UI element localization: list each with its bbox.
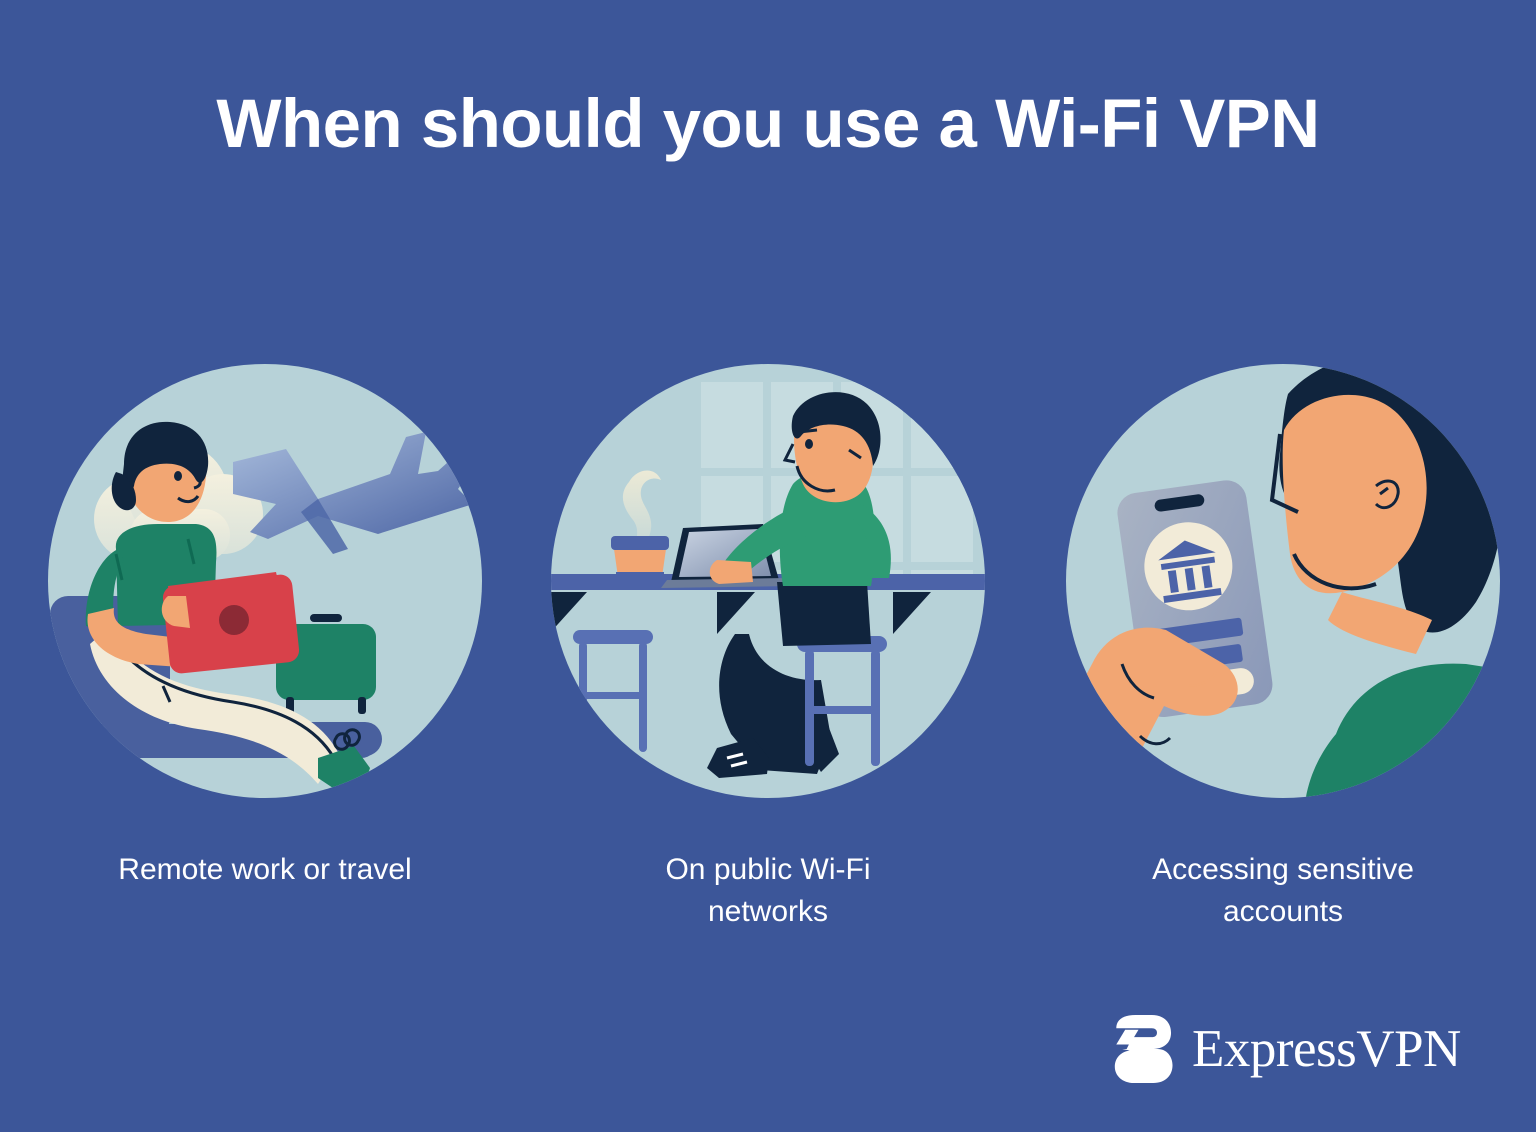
illustration-public-wifi bbox=[521, 334, 1015, 828]
counter-bracket bbox=[893, 592, 931, 634]
stool-back bbox=[573, 630, 653, 752]
counter-bracket bbox=[549, 592, 587, 634]
airplane-shape bbox=[233, 432, 483, 554]
coffee-cup-shape bbox=[611, 536, 669, 584]
caption-remote-work: Remote work or travel bbox=[40, 849, 490, 891]
stool-front bbox=[797, 636, 887, 766]
caption-line: networks bbox=[543, 891, 993, 933]
panel-row: Remote work or travel bbox=[0, 364, 1536, 964]
page-title: When should you use a Wi-Fi VPN bbox=[0, 86, 1536, 162]
illustration-sensitive-accounts bbox=[1036, 334, 1530, 828]
panel-remote-work: Remote work or travel bbox=[40, 364, 490, 798]
panel-public-wifi: On public Wi-Fi networks bbox=[543, 364, 993, 798]
panel-sensitive-accounts: Accessing sensitive accounts bbox=[1058, 364, 1508, 798]
caption-line: Remote work or travel bbox=[40, 849, 490, 891]
caption-line: accounts bbox=[1058, 891, 1508, 933]
head-shape bbox=[112, 422, 208, 522]
illustration-circle-sensitive-accounts bbox=[1066, 364, 1500, 798]
hand-shape bbox=[710, 560, 753, 584]
infographic-canvas: When should you use a Wi-Fi VPN bbox=[0, 0, 1536, 1132]
expressvpn-logo: ExpressVPN bbox=[1100, 1012, 1461, 1086]
caption-line: On public Wi-Fi bbox=[543, 849, 993, 891]
caption-sensitive-accounts: Accessing sensitive accounts bbox=[1058, 849, 1508, 933]
shirt-shape bbox=[1304, 664, 1530, 828]
expressvpn-wordmark: ExpressVPN bbox=[1192, 1023, 1461, 1076]
illustration-circle-remote-work bbox=[48, 364, 482, 798]
caption-line: Accessing sensitive bbox=[1058, 849, 1508, 891]
expressvpn-e-mark bbox=[1100, 1012, 1174, 1086]
illustration-circle-public-wifi bbox=[551, 364, 985, 798]
caption-public-wifi: On public Wi-Fi networks bbox=[543, 849, 993, 933]
illustration-remote-work bbox=[18, 334, 512, 828]
counter-bracket bbox=[717, 592, 755, 634]
